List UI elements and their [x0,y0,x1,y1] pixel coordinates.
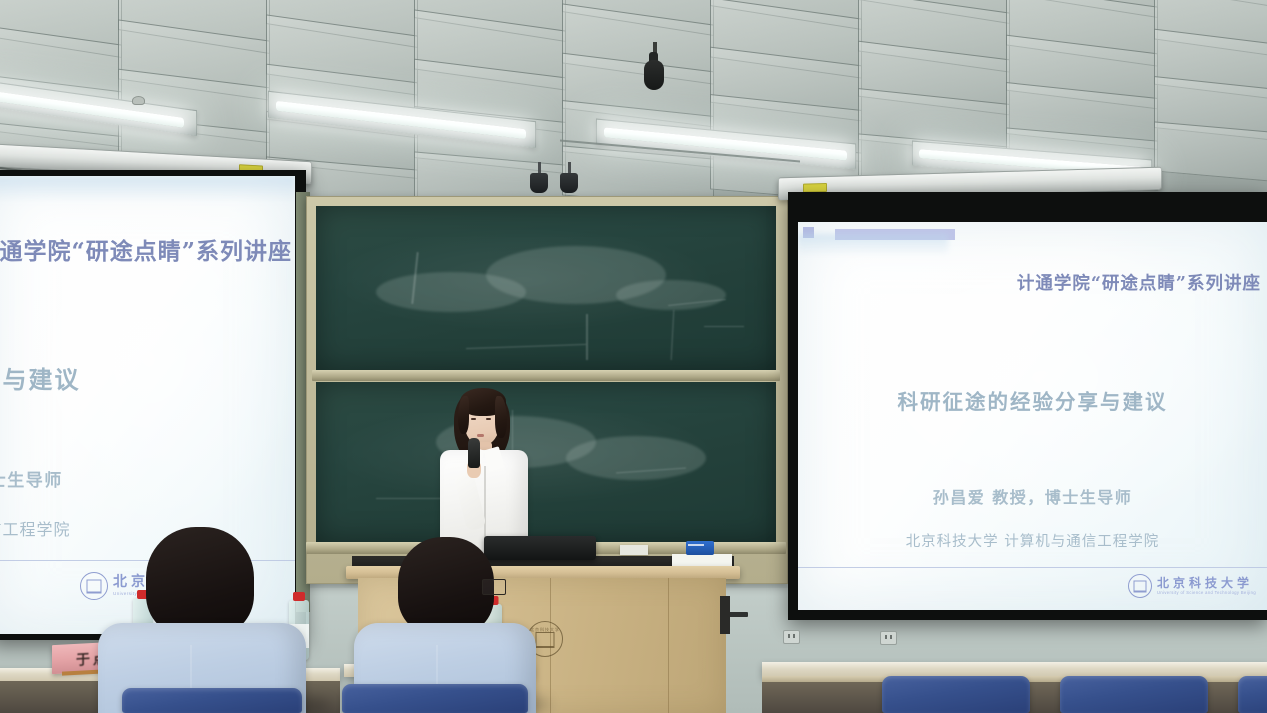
presenter-hair-side-left [458,396,469,434]
podium-side-panel [720,596,730,634]
audience-chair-1[interactable] [882,676,1030,713]
audience-chair-left-front[interactable] [122,688,302,713]
left-slide-speaker: 博士生导师 [0,466,169,491]
podium-paper-small [620,545,648,555]
audience-head-left [146,527,254,637]
slide-decoration-glow [798,234,948,256]
projection-screen-right[interactable]: 计通学院“研途点睛”系列讲座 科研征途的经验分享与建议 孙昌爱 教授，博士生导师… [798,222,1267,610]
left-slide-title: 验分享与建议 [0,360,155,395]
slide-title: 科研征途的经验分享与建议 [798,385,1267,415]
presenter-eye-left [471,418,476,420]
slide-logo: 北京科技大学 University of Science and Technol… [1128,574,1256,598]
chalkboard-middle-ledge [312,370,780,381]
audience-head-center [398,537,494,635]
ceiling-camera [644,60,664,90]
slide-footer-rule [798,567,1267,568]
slide-logo-cn: 北京科技大学 [1157,577,1256,589]
ceiling-speaker-right [560,173,578,193]
podium-blue-box[interactable] [686,541,714,555]
audience-chair-3[interactable] [1238,676,1267,713]
lecture-hall-photo: 通学院“研途点睛”系列讲座 验分享与建议 博士生导师 机与通信工程学院 北京科技… [0,0,1267,713]
fire-sprinkler [132,96,145,105]
audience-member-front-left [90,527,340,713]
slide-logo-en: University of Science and Technology Bei… [1157,591,1256,595]
eyeglasses [482,579,506,595]
presenter-mouth [477,434,484,437]
chalkboard-upper-panel [316,206,776,370]
left-slide-header: 通学院“研途点睛”系列讲座 [0,232,292,266]
slide-header: 计通学院“研途点睛”系列讲座 [801,270,1261,295]
wall-outlet-right[interactable] [880,631,897,645]
audience-chair-center-front[interactable] [342,684,528,713]
audience-chair-2[interactable] [1060,676,1208,713]
wall-outlet-left[interactable] [783,630,800,644]
presenter-eye-right [486,418,491,420]
presenter-speaking [418,386,558,561]
ceiling-speaker-left [530,173,548,193]
usb-logo-mark [1128,574,1152,598]
microphone[interactable] [468,438,480,468]
slide-affiliation: 北京科技大学 计算机与通信工程学院 [798,530,1267,551]
slide-speaker: 孙昌爱 教授，博士生导师 [798,484,1267,508]
